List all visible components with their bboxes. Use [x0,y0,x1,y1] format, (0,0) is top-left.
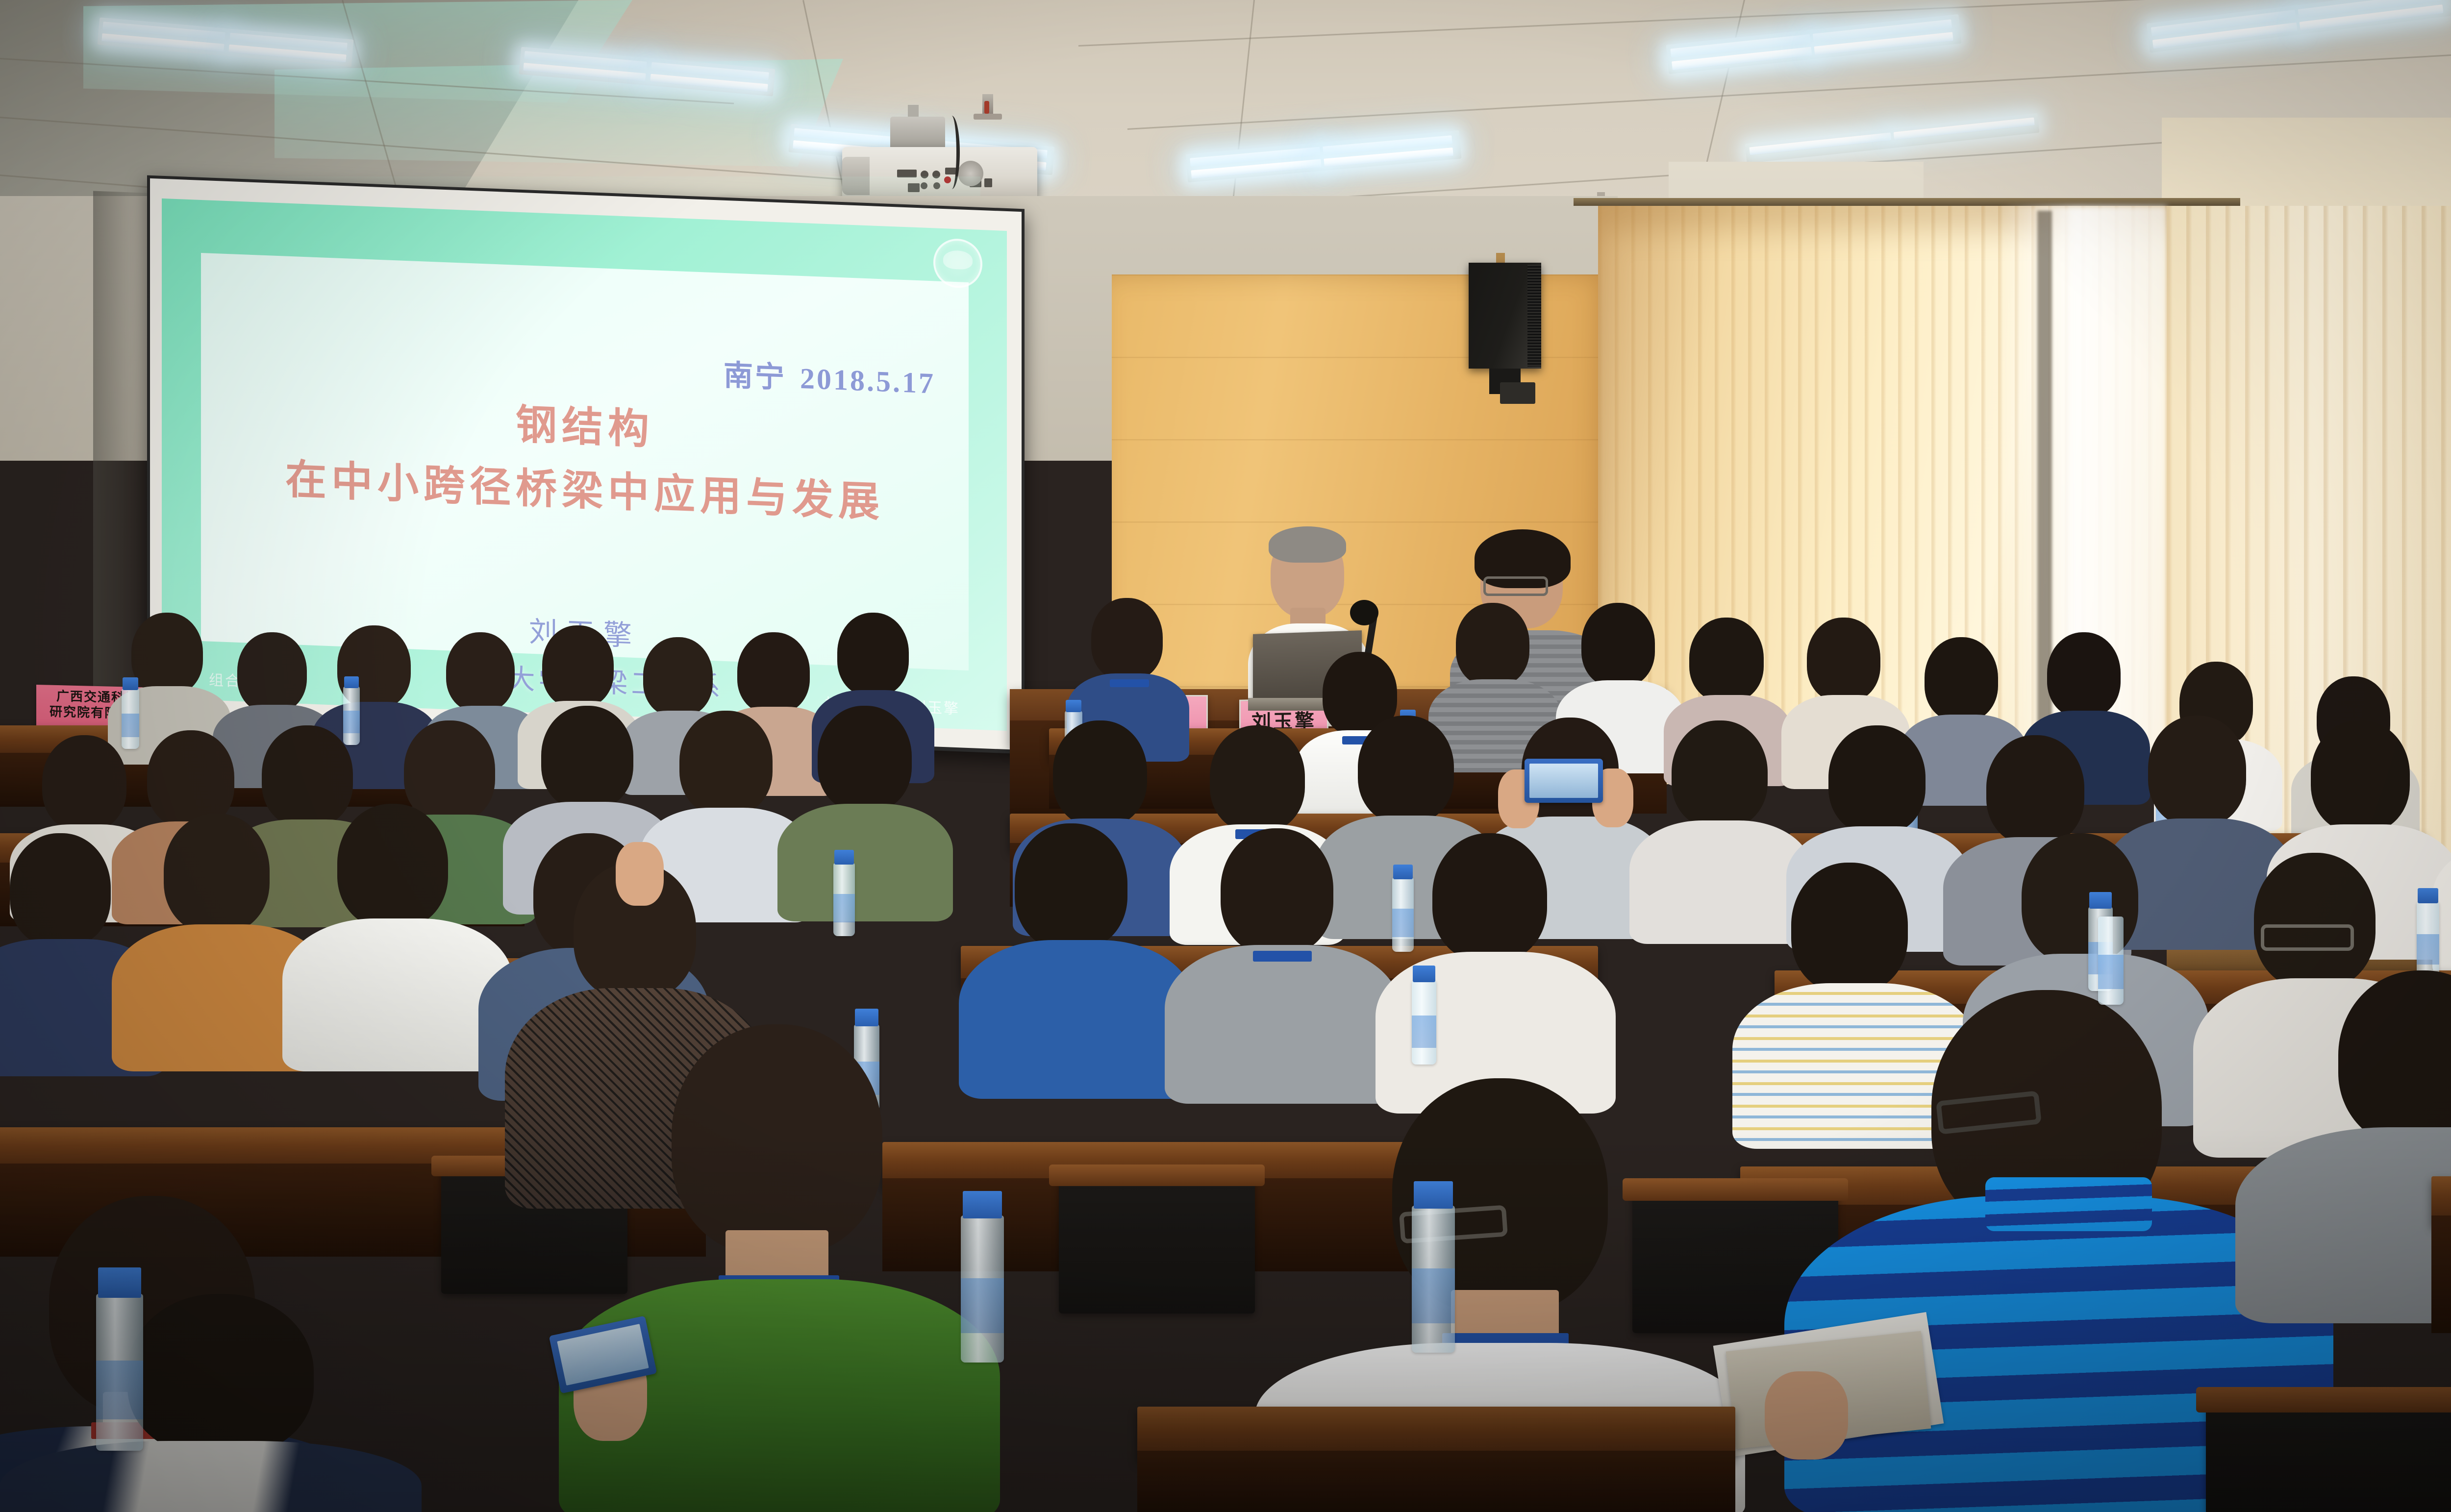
person-row3-center-1 [971,823,1181,1098]
bottle-label [2098,955,2124,989]
smartphone-camera [1525,759,1603,803]
head [337,804,448,928]
head [643,637,713,717]
bottle-cap [963,1191,1002,1218]
head [672,1024,882,1255]
microphone-capsule [1350,600,1378,625]
water-bottle [1412,1206,1455,1353]
bottle-label [961,1278,1004,1333]
conference-lanyard [1253,951,1312,962]
wall-above-curtain-right [2162,118,2451,211]
head [1581,603,1655,687]
head [1791,863,1908,993]
head [42,735,126,831]
projector-port [897,170,917,177]
projector-port [921,171,928,178]
curtain-rail [1574,198,2240,206]
bottle-cap [344,676,359,688]
torso-olive-2 [777,804,953,921]
water-bottle [2098,917,2124,1005]
bottle-cap [834,850,854,865]
head [2148,716,2246,826]
conference-lanyard [1110,679,1149,687]
head [1221,828,1333,955]
wall-speaker-grille-side [1527,265,1541,367]
smartphone-screen [1529,764,1598,798]
desk-front-nearest-center [1137,1451,1735,1512]
head [1210,725,1305,832]
water-bottle [96,1294,143,1451]
head [1015,823,1127,950]
wall-speaker-mount [1500,382,1535,404]
eyeglasses-icon [2261,924,2354,951]
head [837,613,909,696]
head [446,632,515,712]
hand-holding-handout [1765,1371,1848,1460]
head [164,814,270,933]
person-green-tshirt [578,1024,980,1512]
head [1358,716,1454,823]
head [818,706,912,812]
torso [0,1441,422,1512]
bottle-label [96,1361,143,1419]
water-bottle [1412,980,1436,1065]
hand-raised [616,842,664,906]
bottle-cap [855,1009,878,1026]
head [131,613,203,695]
head [1689,618,1764,702]
person-mid-left-7 [784,706,946,917]
hair [1269,526,1346,563]
torso [2235,1127,2451,1323]
bottle-cap [1414,1181,1453,1209]
slide-date-location: 南宁2018.5.17 [724,351,935,402]
slide-date-label: 2018.5.17 [800,362,935,400]
person-mid-right-5 [2441,735,2451,980]
bottle-cap [2089,892,2112,909]
chair-back [1059,1176,1255,1314]
head [1091,598,1163,680]
fire-sprinkler-bulb [984,101,989,114]
lecture-hall-photograph: 南宁2018.5.17 钢结构 在中小跨径桥梁中应用与发展 刘玉擎 同济大学桥梁… [0,0,2451,1512]
head [2338,970,2451,1147]
polo-collar [1985,1177,2152,1231]
water-bottle [961,1215,1004,1363]
head [1432,833,1547,962]
head [1828,725,1926,834]
head [127,1294,314,1456]
projector-cable [944,116,960,189]
head [10,833,111,947]
head [1986,735,2084,845]
chair-frame-nearest [2196,1387,2451,1413]
projector-port [984,178,992,187]
head [237,632,307,713]
bottle-label [1412,1268,1455,1323]
chair-back-nearest [2206,1402,2451,1512]
head [2047,632,2121,718]
desk-front-nearest-right [2431,1215,2451,1333]
smartphone-screen [557,1324,649,1386]
projector-vent-grille [958,161,983,186]
head [2311,720,2410,832]
projector-lens [842,157,870,195]
head [542,625,614,708]
person-row3-left-3 [294,804,500,1068]
bottle-label [833,894,855,922]
head [1807,618,1880,702]
bottle-cap [123,677,138,690]
head [737,632,810,714]
head [1053,720,1147,826]
bottle-cap [1413,966,1435,982]
head [541,706,633,810]
chair-frame [1049,1165,1265,1186]
projector-port [908,183,920,192]
bottle-label [1412,1016,1436,1048]
eyeglasses-icon [1483,576,1548,596]
torso [959,940,1194,1099]
head [2254,853,2376,989]
slide-inner-panel: 南宁2018.5.17 钢结构 在中小跨径桥梁中应用与发展 刘玉擎 同济大学桥梁… [201,253,969,670]
projector-port [933,182,940,189]
projector-port [932,171,940,178]
head [679,711,773,816]
water-bottle [833,863,855,936]
head [1456,603,1529,686]
head [1672,720,1768,828]
head [1925,637,1998,721]
projector-port [921,182,927,189]
person-grey-shirt-fg-right [2255,970,2451,1314]
person-foreground-navy-white [29,1294,402,1512]
bottle-cap [1066,700,1081,712]
bottle-cap [98,1267,141,1298]
fire-sprinkler-deflector [974,114,1002,120]
person-row3-center-2 [1176,828,1387,1103]
slide-location-label: 南宁 [724,359,786,394]
